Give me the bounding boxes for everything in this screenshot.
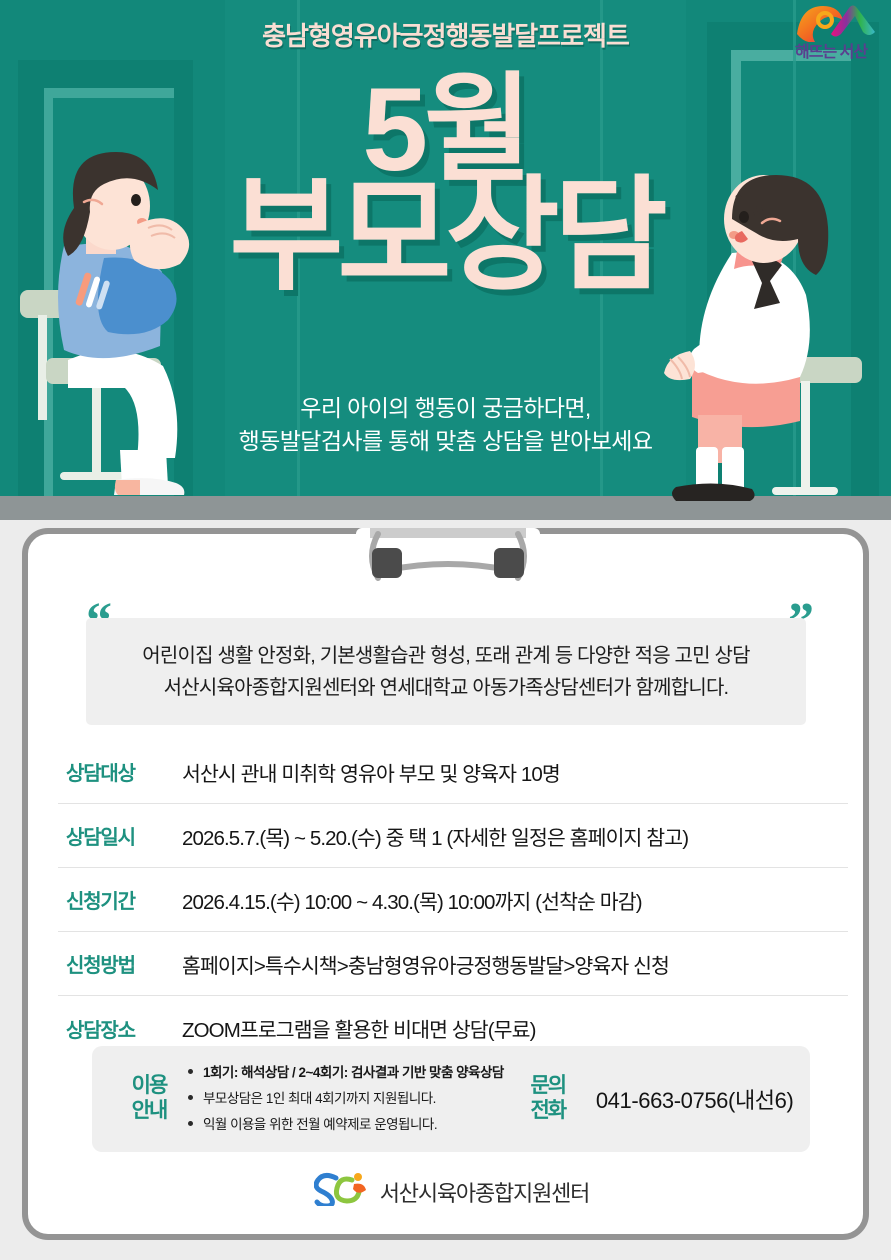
city-logo-name: 해뜨는 서산 xyxy=(795,38,891,62)
info-value: 2026.5.7.(목) ~ 5.20.(수) 중 택 1 (자세한 일정은 홈… xyxy=(182,821,688,851)
binder-clip-icon xyxy=(348,520,548,582)
table-row: 신청방법 홈페이지>특수시책>충남형영유아긍정행동발달>양육자 신청 xyxy=(58,932,848,996)
quote-line1: 어린이집 생활 안정화, 기본생활습관 형성, 또래 관계 등 다양한 적응 고… xyxy=(106,640,786,672)
hero-subtitle: 우리 아이의 행동이 궁금하다면, 행동발달검사를 통해 맞춤 상담을 받아보세… xyxy=(0,392,891,459)
hero-title-line2: 부모상담 xyxy=(0,179,891,293)
table-row: 신청기간 2026.4.15.(수) 10:00 ~ 4.30.(목) 10:0… xyxy=(58,868,848,932)
hero-banner: 충남형영유아긍정행동발달프로젝트 5월 부모상담 우리 아이의 행동이 궁금하다… xyxy=(0,0,891,520)
usage-notice-tag: 이용 안내 xyxy=(112,1074,186,1124)
info-label: 상담대상 xyxy=(66,757,182,786)
center-logo-icon xyxy=(314,1172,372,1211)
center-name: 서산시육아종합지원센터 xyxy=(380,1176,589,1208)
contact-phone-number[interactable]: 041-663-0756(내선6) xyxy=(596,1083,794,1115)
footer-branding: 서산시육아종합지원센터 xyxy=(28,1172,875,1211)
list-item: 1회기: 해석상담 / 2~4회기: 검사결과 기반 맞춤 양육상담 xyxy=(188,1060,504,1086)
phone-tag-line1: 문의 xyxy=(518,1074,578,1099)
info-value: 서산시 관내 미취학 영유아 부모 및 양육자 10명 xyxy=(182,757,560,787)
phone-tag: 문의 전화 xyxy=(518,1074,578,1124)
usage-notice-box: 이용 안내 1회기: 해석상담 / 2~4회기: 검사결과 기반 맞춤 양육상담… xyxy=(92,1046,810,1152)
city-logo: 해뜨는 서산 xyxy=(791,2,887,64)
info-value: ZOOM프로그램을 활용한 비대면 상담(무료) xyxy=(182,1013,536,1043)
quote-box: 어린이집 생활 안정화, 기본생활습관 형성, 또래 관계 등 다양한 적응 고… xyxy=(86,618,806,725)
info-card: “ ” 어린이집 생활 안정화, 기본생활습관 형성, 또래 관계 등 다양한 … xyxy=(22,528,869,1240)
table-row: 상담일시 2026.5.7.(목) ~ 5.20.(수) 중 택 1 (자세한 … xyxy=(58,804,848,868)
hero-subtitle-line1: 우리 아이의 행동이 궁금하다면, xyxy=(0,392,891,425)
hero-kicker: 충남형영유아긍정행동발달프로젝트 xyxy=(0,16,891,53)
info-value: 홈페이지>특수시책>충남형영유아긍정행동발달>양육자 신청 xyxy=(182,949,669,979)
hero-title: 5월 부모상담 xyxy=(0,76,891,293)
info-label: 신청방법 xyxy=(66,949,182,978)
hero-subtitle-line2: 행동발달검사를 통해 맞춤 상담을 받아보세요 xyxy=(0,425,891,458)
info-label: 상담장소 xyxy=(66,1014,182,1043)
info-value: 2026.4.15.(수) 10:00 ~ 4.30.(목) 10:00까지 (… xyxy=(182,885,642,915)
usage-notice-tag-line2: 안내 xyxy=(112,1099,186,1124)
list-item: 익월 이용을 위한 전월 예약제로 운영됩니다. xyxy=(188,1112,504,1138)
quote-line2: 서산시육아종합지원센터와 연세대학교 아동가족상담센터가 함께합니다. xyxy=(106,672,786,704)
info-row-list: 상담대상 서산시 관내 미취학 영유아 부모 및 양육자 10명 상담일시 20… xyxy=(58,740,848,1060)
phone-tag-line2: 전화 xyxy=(518,1099,578,1124)
usage-notice-list: 1회기: 해석상담 / 2~4회기: 검사결과 기반 맞춤 양육상담 부모상담은… xyxy=(188,1060,504,1139)
table-row: 상담대상 서산시 관내 미취학 영유아 부모 및 양육자 10명 xyxy=(58,740,848,804)
info-label: 신청기간 xyxy=(66,885,182,914)
info-label: 상담일시 xyxy=(66,821,182,850)
list-item: 부모상담은 1인 최대 4회기까지 지원됩니다. xyxy=(188,1086,504,1112)
usage-notice-tag-line1: 이용 xyxy=(112,1074,186,1099)
